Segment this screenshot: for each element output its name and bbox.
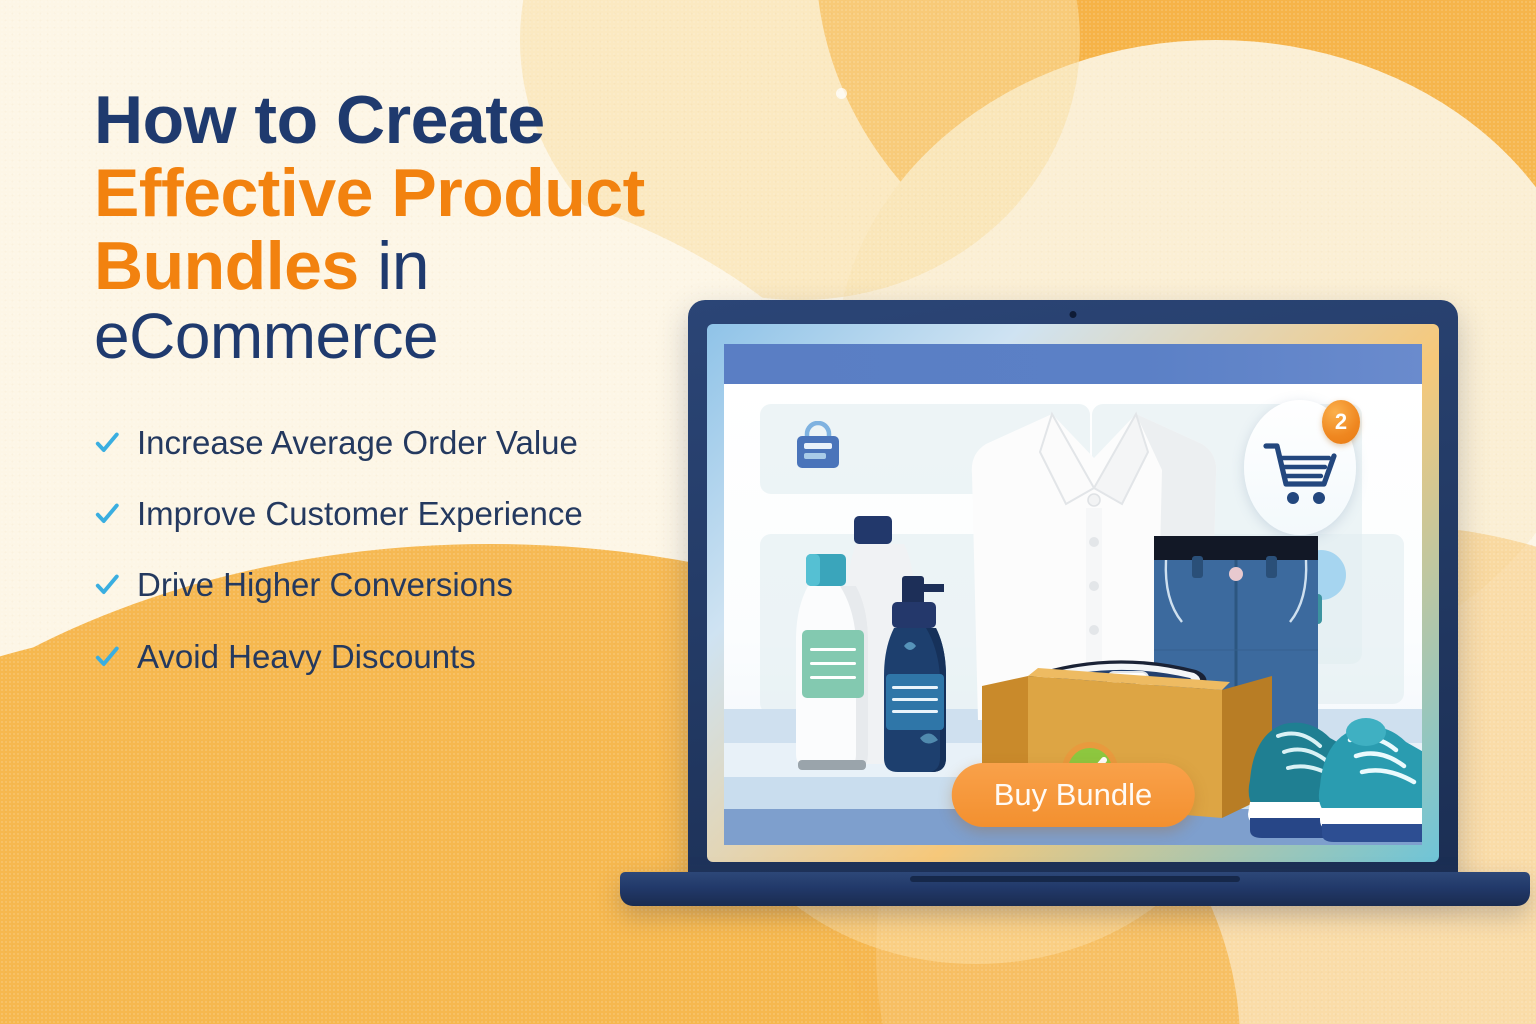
headline-line-2: Effective Product [94, 157, 784, 230]
headline-line-1: How to Create [94, 84, 784, 157]
store-page: 2 [724, 384, 1422, 845]
check-icon [94, 644, 120, 670]
teal-sneakers [1244, 684, 1422, 842]
laptop-illustration: 2 [620, 300, 1530, 930]
shopping-bag-icon [790, 421, 846, 471]
browser-topbar [724, 344, 1422, 384]
laptop-lid: 2 [688, 300, 1458, 882]
background-dot-accent [836, 88, 847, 99]
list-item-label: Increase Average Order Value [137, 425, 578, 461]
headline-line-3-rest: in [359, 228, 429, 304]
headline-line-3-emphasis: Bundles [94, 228, 359, 304]
list-item-label: Improve Customer Experience [137, 496, 583, 532]
browser-window: 2 [724, 344, 1422, 845]
check-icon [94, 430, 120, 456]
list-item-label: Drive Higher Conversions [137, 567, 513, 603]
laptop-screen: 2 [707, 324, 1439, 862]
buy-bundle-button[interactable]: Buy Bundle [952, 763, 1195, 827]
laptop-base [620, 872, 1530, 906]
check-icon [94, 501, 120, 527]
cart-badge: 2 [1322, 400, 1360, 444]
product-bottles [780, 502, 990, 792]
shopping-cart-icon[interactable] [1262, 436, 1340, 508]
laptop-base-notch [910, 876, 1240, 882]
webcam-icon [1070, 311, 1077, 318]
navy-spray-bottle [884, 576, 946, 772]
check-icon [94, 572, 120, 598]
list-item-label: Avoid Heavy Discounts [137, 639, 476, 675]
